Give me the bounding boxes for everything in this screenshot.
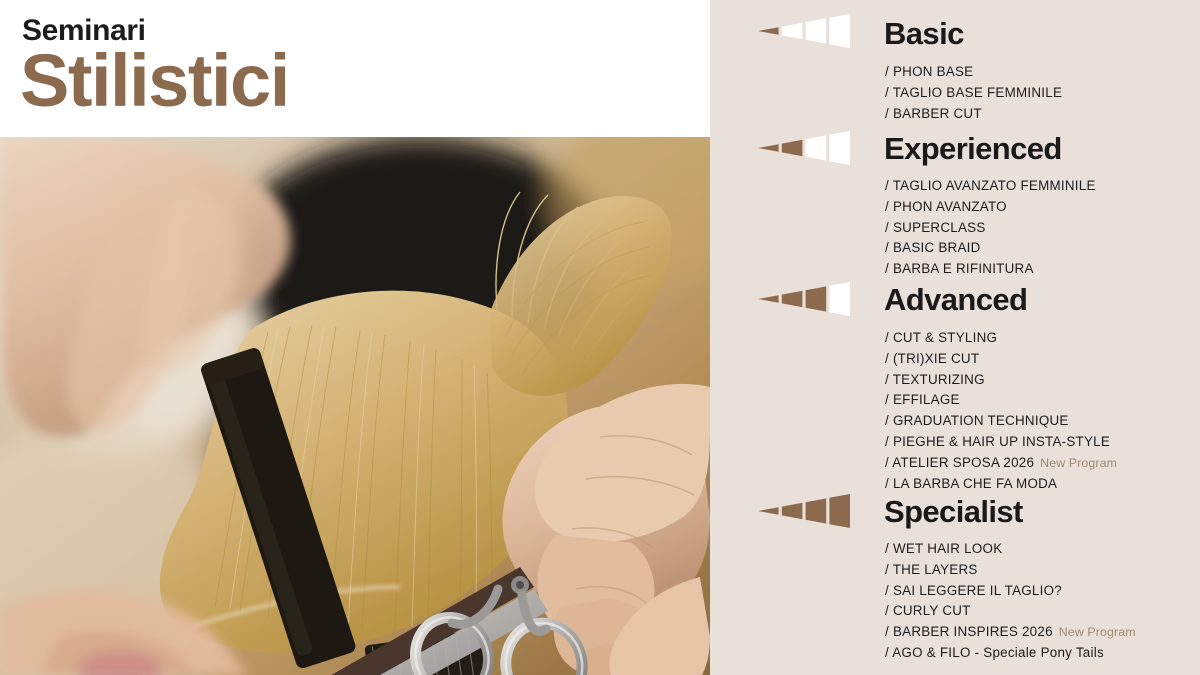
chevron-segment	[758, 507, 779, 515]
bullet-slash: /	[885, 351, 889, 366]
chevron-segment	[782, 23, 803, 39]
course-item[interactable]: / SUPERCLASS	[885, 218, 1096, 239]
chevron-segment	[758, 144, 779, 152]
bullet-slash: /	[885, 330, 889, 345]
bullet-slash: /	[885, 624, 889, 639]
left-panel: Seminari Stilistici	[0, 0, 710, 675]
chevron-segment	[758, 295, 779, 303]
salon-haircut-photo	[0, 137, 710, 675]
chevron-segment	[829, 131, 850, 165]
course-list: / TAGLIO AVANZATO FEMMINILE/ PHON AVANZA…	[885, 176, 1096, 280]
section-heading: Basic	[884, 18, 964, 49]
bullet-slash: /	[885, 220, 889, 235]
course-label: WET HAIR LOOK	[893, 541, 1002, 556]
course-label: SAI LEGGERE IL TAGLIO?	[893, 583, 1062, 598]
bullet-slash: /	[885, 106, 889, 121]
course-label: TAGLIO BASE FEMMINILE	[893, 85, 1062, 100]
course-item[interactable]: / BARBA E RIFINITURA	[885, 259, 1096, 280]
bullet-slash: /	[885, 64, 889, 79]
course-list: / PHON BASE/ TAGLIO BASE FEMMINILE/ BARB…	[885, 62, 1062, 124]
course-list: / WET HAIR LOOK/ THE LAYERS/ SAI LEGGERE…	[885, 539, 1136, 664]
course-label: LA BARBA CHE FA MODA	[893, 476, 1057, 491]
bullet-slash: /	[885, 645, 889, 660]
chevron-segment	[782, 291, 803, 307]
bullet-slash: /	[885, 583, 889, 598]
bullet-slash: /	[885, 413, 889, 428]
course-item[interactable]: / CURLY CUT	[885, 601, 1136, 622]
chevron-segment	[806, 18, 827, 43]
course-label: ATELIER SPOSA 2026	[892, 455, 1034, 470]
level-indicator-basic	[758, 14, 850, 48]
bullet-slash: /	[885, 455, 889, 470]
course-item[interactable]: / GRADUATION TECHNIQUE	[885, 411, 1117, 432]
course-list: / CUT & STYLING/ (TRI)XIE CUT/ TEXTURIZI…	[885, 328, 1117, 494]
course-label: EFFILAGE	[893, 392, 960, 407]
chevron-segment	[782, 503, 803, 519]
chevron-segment	[806, 498, 827, 523]
course-label: THE LAYERS	[893, 562, 978, 577]
course-label: TEXTURIZING	[893, 372, 985, 387]
level-indicator-experienced	[758, 131, 850, 165]
course-item[interactable]: / LA BARBA CHE FA MODA	[885, 474, 1117, 495]
bullet-slash: /	[885, 434, 889, 449]
course-label: BARBER CUT	[893, 106, 982, 121]
bullet-slash: /	[885, 261, 889, 276]
course-label: AGO & FILO - Speciale Pony Tails	[892, 645, 1104, 660]
course-label: BARBA E RIFINITURA	[893, 261, 1034, 276]
poster-root: Seminari Stilistici	[0, 0, 1200, 675]
course-item[interactable]: / PHON BASE	[885, 62, 1062, 83]
course-label: SUPERCLASS	[893, 220, 986, 235]
course-item[interactable]: / CUT & STYLING	[885, 328, 1117, 349]
course-label: GRADUATION TECHNIQUE	[893, 413, 1069, 428]
course-item[interactable]: / BARBER INSPIRES 2026New Program	[885, 622, 1136, 643]
chevron-segment	[829, 14, 850, 48]
new-program-badge: New Program	[1059, 625, 1136, 639]
course-item[interactable]: / ATELIER SPOSA 2026New Program	[885, 453, 1117, 474]
course-label: TAGLIO AVANZATO FEMMINILE	[893, 178, 1096, 193]
course-item[interactable]: / BARBER CUT	[885, 104, 1062, 125]
bullet-slash: /	[885, 541, 889, 556]
chevron-segment	[829, 494, 850, 528]
sections-panel: Basic/ PHON BASE/ TAGLIO BASE FEMMINILE/…	[710, 0, 1200, 675]
course-item[interactable]: / WET HAIR LOOK	[885, 539, 1136, 560]
section-heading: Specialist	[884, 496, 1023, 527]
title-block: Seminari Stilistici	[0, 0, 710, 137]
bullet-slash: /	[885, 372, 889, 387]
course-label: CUT & STYLING	[893, 330, 997, 345]
course-label: BASIC BRAID	[893, 240, 981, 255]
course-item[interactable]: / PHON AVANZATO	[885, 197, 1096, 218]
course-label: (TRI)XIE CUT	[893, 351, 979, 366]
course-label: PHON BASE	[893, 64, 973, 79]
chevron-segment	[829, 282, 850, 316]
page-title: Stilistici	[20, 44, 289, 118]
course-item[interactable]: / TEXTURIZING	[885, 370, 1117, 391]
course-label: PHON AVANZATO	[893, 199, 1007, 214]
course-item[interactable]: / SAI LEGGERE IL TAGLIO?	[885, 581, 1136, 602]
bullet-slash: /	[885, 476, 889, 491]
course-item[interactable]: / TAGLIO BASE FEMMINILE	[885, 83, 1062, 104]
bullet-slash: /	[885, 85, 889, 100]
bullet-slash: /	[885, 392, 889, 407]
course-item[interactable]: / THE LAYERS	[885, 560, 1136, 581]
course-item[interactable]: / PIEGHE & HAIR UP INSTA-STYLE	[885, 432, 1117, 453]
section-heading: Advanced	[884, 284, 1027, 315]
level-indicator-specialist	[758, 494, 850, 528]
chevron-segment	[806, 135, 827, 160]
chevron-segment	[758, 27, 779, 35]
bullet-slash: /	[885, 603, 889, 618]
bullet-slash: /	[885, 199, 889, 214]
bullet-slash: /	[885, 240, 889, 255]
chevron-segment	[782, 140, 803, 156]
course-label: BARBER INSPIRES 2026	[893, 624, 1053, 639]
bullet-slash: /	[885, 178, 889, 193]
course-label: PIEGHE & HAIR UP INSTA-STYLE	[893, 434, 1110, 449]
course-item[interactable]: / AGO & FILO - Speciale Pony Tails	[885, 643, 1136, 664]
course-item[interactable]: / EFFILAGE	[885, 390, 1117, 411]
new-program-badge: New Program	[1040, 456, 1117, 470]
course-label: CURLY CUT	[893, 603, 971, 618]
course-item[interactable]: / BASIC BRAID	[885, 238, 1096, 259]
course-item[interactable]: / (TRI)XIE CUT	[885, 349, 1117, 370]
bullet-slash: /	[885, 562, 889, 577]
level-indicator-advanced	[758, 282, 850, 316]
section-heading: Experienced	[884, 133, 1062, 164]
chevron-segment	[806, 286, 827, 311]
course-item[interactable]: / TAGLIO AVANZATO FEMMINILE	[885, 176, 1096, 197]
